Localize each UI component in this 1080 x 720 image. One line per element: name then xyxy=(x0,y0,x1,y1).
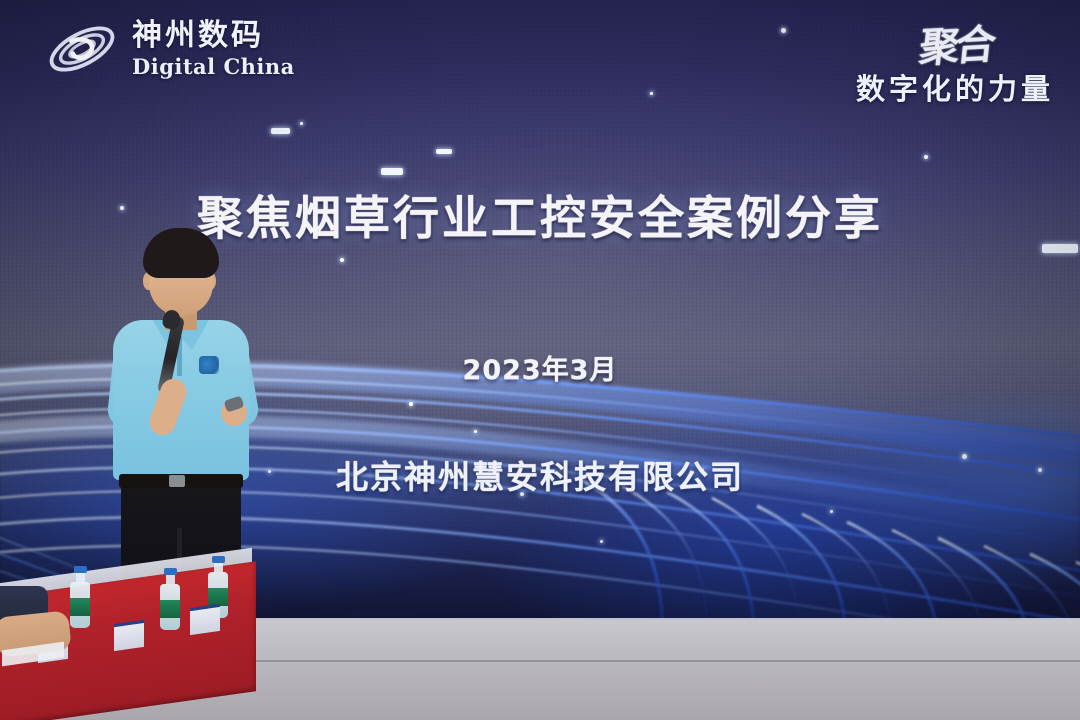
bottle-body xyxy=(160,584,180,630)
bottle-body xyxy=(70,582,90,628)
name-card xyxy=(190,604,220,635)
brand-name-en: Digital China xyxy=(132,56,295,77)
bottle-neck xyxy=(166,575,175,584)
bottle-neck xyxy=(76,573,85,582)
speaker-shirt-logo-icon xyxy=(199,356,219,374)
bottle-label xyxy=(70,598,90,616)
bottle-cap xyxy=(164,568,177,575)
bottle-cap xyxy=(74,566,87,573)
event-tagline: 数字化的力量 xyxy=(856,66,1054,108)
event-mark-calligraphy: 聚合 xyxy=(917,12,996,74)
brand-text-block: 神州数码 Digital China xyxy=(132,21,295,77)
swirl-galaxy-icon xyxy=(44,18,120,80)
water-bottle xyxy=(160,568,180,630)
speaker-belt-buckle xyxy=(169,475,185,487)
stage-photo: 聚焦烟草行业工控安全案例分享 2023年3月 北京神州慧安科技有限公司 神州数码… xyxy=(0,0,1080,720)
event-logo: 聚合 数字化的力量 xyxy=(856,14,1054,108)
name-card xyxy=(114,620,144,651)
bottle-neck xyxy=(214,563,223,572)
bottle-label xyxy=(160,600,180,618)
brand-logo-digital-china: 神州数码 Digital China xyxy=(44,18,295,80)
brand-name-cn: 神州数码 xyxy=(132,21,295,51)
water-bottle xyxy=(70,566,90,628)
bottle-cap xyxy=(212,556,225,563)
speaker-hair xyxy=(143,228,219,278)
